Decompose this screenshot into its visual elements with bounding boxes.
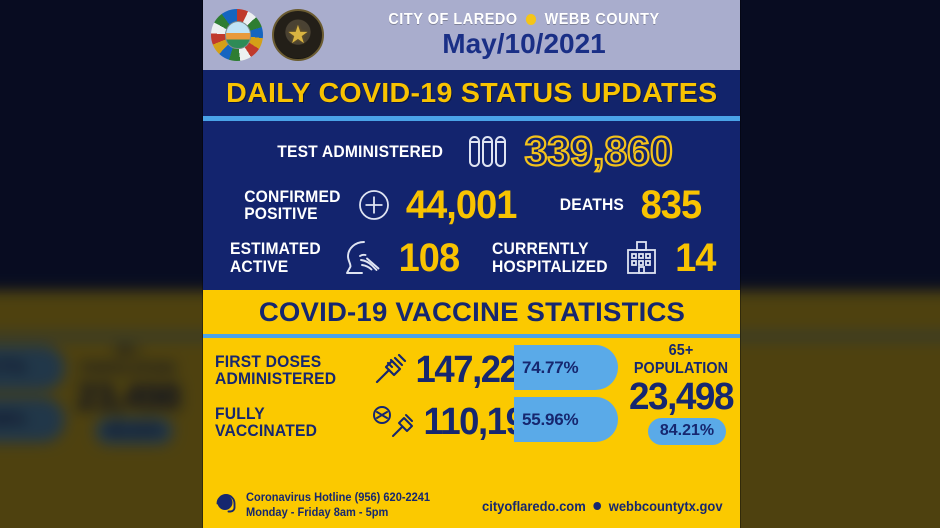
screenshot-stage: CITY OF LAREDOWEBB COUNTY May/10/2021 DA…: [0, 0, 940, 528]
senior-population-block: 65+ POPULATION 23,498 84.21%: [625, 342, 737, 445]
navy-dot-icon: [594, 502, 602, 510]
senior-population-percent-pill: 84.21%: [648, 418, 726, 445]
organization-line: CITY OF LAREDO WEBB COUNTY: [338, 11, 710, 29]
county-website-link[interactable]: webbcountytx.gov: [609, 499, 723, 514]
syringe-double-dose-icon: [369, 402, 417, 442]
percentage-pill-group: 74.77% 55.96%: [514, 345, 618, 442]
city-of-laredo-seal-icon: [211, 9, 263, 61]
masthead: CITY OF LAREDO WEBB COUNTY May/10/2021: [203, 0, 740, 70]
footer: Coronavirus Hotline (956) 620-2241 Monda…: [203, 486, 740, 528]
website-block: cityoflaredo.com webbcountytx.gov: [482, 499, 723, 514]
seal-group: [211, 9, 324, 61]
plus-circle-icon: [357, 188, 391, 222]
vaccine-stats-section: FIRST DOSES ADMINISTERED: [203, 338, 740, 486]
tests-value: 339,860: [525, 131, 673, 172]
deaths-label: DEATHS: [560, 196, 624, 213]
first-doses-label: FIRST DOSES ADMINISTERED: [215, 353, 353, 388]
confirmed-positive-label: CONFIRMED POSITIVE: [244, 188, 340, 223]
tests-label: TEST ADMINISTERED: [277, 143, 443, 160]
infographic-card: CITY OF LAREDO WEBB COUNTY May/10/2021 D…: [203, 0, 740, 528]
stat-row-confirmed-deaths: CONFIRMED POSITIVE 44,001 DEATHS 835: [215, 185, 728, 225]
status-stats-section: TEST ADMINISTERED 339,860: [203, 121, 740, 290]
fully-vaccinated-label: FULLY VACCINATED: [215, 405, 353, 440]
page-title: DAILY COVID-19 STATUS UPDATES: [226, 77, 717, 109]
hotline-line-1: Coronavirus Hotline (956) 620-2241: [246, 492, 430, 504]
stat-row-tests: TEST ADMINISTERED 339,860: [215, 131, 728, 172]
vaccine-title-band: COVID-19 VACCINE STATISTICS: [203, 290, 740, 334]
test-tubes-icon: [465, 134, 511, 170]
yellow-dot-icon: [526, 14, 536, 25]
county-name: WEBB COUNTY: [545, 11, 660, 29]
texas-state-seal-icon: [272, 9, 324, 61]
currently-hospitalized-value: 14: [675, 238, 715, 278]
deaths-value: 835: [641, 185, 702, 225]
vaccine-row-fully-vaccinated: FULLY VACCINATED: [215, 396, 546, 448]
city-website-link[interactable]: cityoflaredo.com: [482, 499, 586, 514]
syringe-icon: [369, 350, 409, 390]
confirmed-positive-value: 44,001: [406, 185, 517, 225]
hotline-line-2: Monday - Friday 8am - 5pm: [246, 507, 388, 519]
stat-row-active-hospitalized: ESTIMATED ACTIVE 108: [215, 238, 728, 278]
senior-population-label: 65+ POPULATION: [629, 342, 733, 378]
city-name: CITY OF LAREDO: [388, 11, 517, 29]
masthead-text: CITY OF LAREDO WEBB COUNTY May/10/2021: [324, 11, 734, 59]
report-date: May/10/2021: [324, 28, 724, 59]
face-mask-icon: [337, 238, 385, 278]
estimated-active-label: ESTIMATED ACTIVE: [230, 240, 321, 275]
senior-population-value: 23,498: [627, 378, 736, 417]
hospital-icon: [624, 239, 662, 277]
title-band: DAILY COVID-19 STATUS UPDATES: [203, 70, 740, 116]
vaccine-section-title: COVID-19 VACCINE STATISTICS: [258, 297, 684, 328]
vaccine-row-first-doses: FIRST DOSES ADMINISTERED: [215, 344, 546, 396]
first-doses-percent-pill: 74.77%: [514, 345, 618, 390]
currently-hospitalized-label: CURRENTLY HOSPITALIZED: [492, 240, 608, 275]
phone-headset-icon: [214, 491, 239, 521]
estimated-active-value: 108: [398, 238, 459, 278]
hotline-text: Coronavirus Hotline (956) 620-2241 Monda…: [246, 491, 430, 520]
fully-vaccinated-percent-pill: 55.96%: [514, 397, 618, 442]
hotline-block: Coronavirus Hotline (956) 620-2241 Monda…: [214, 491, 438, 521]
